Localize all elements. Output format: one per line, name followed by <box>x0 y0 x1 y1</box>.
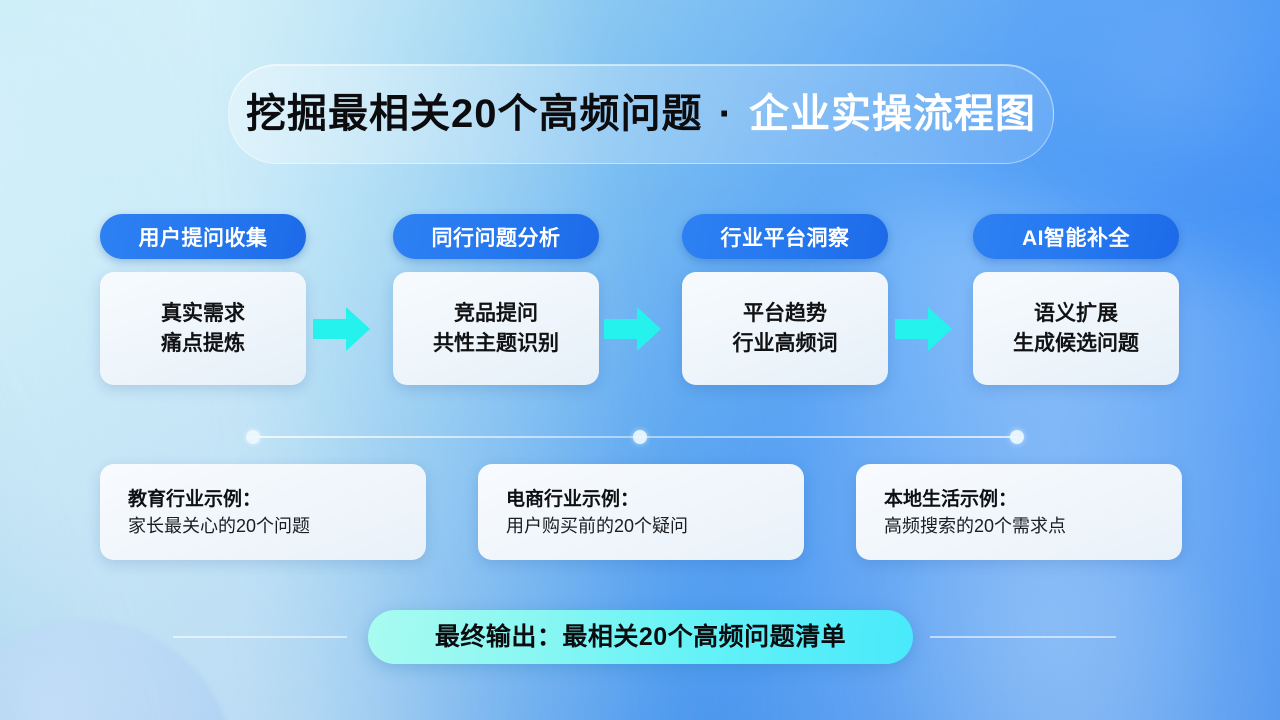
example-cards-row: 教育行业示例： 家长最关心的20个问题 电商行业示例： 用户购买前的20个疑问 … <box>0 464 1280 562</box>
example-card-2-title: 电商行业示例： <box>506 490 804 509</box>
connector-dot-2 <box>633 430 647 444</box>
example-card-local-life[interactable]: 本地生活示例： 高频搜索的20个需求点 <box>856 464 1182 560</box>
process-step-3[interactable]: 行业平台洞察 平台趋势 行业高频词 <box>682 214 888 385</box>
step-4-line-1: 语义扩展 <box>1034 303 1118 324</box>
arrow-right-icon-3 <box>895 306 953 352</box>
step-1-pill-label: 用户提问收集 <box>100 214 306 259</box>
step-4-pill-label: AI智能补全 <box>973 214 1179 259</box>
process-step-1[interactable]: 用户提问收集 真实需求 痛点提炼 <box>100 214 306 385</box>
step-2-card: 竞品提问 共性主题识别 <box>393 272 599 385</box>
step-4-line-2: 生成候选问题 <box>1013 333 1139 354</box>
page-title: 挖掘最相关20个高频问题 · 企业实操流程图 <box>246 94 1036 134</box>
final-connector-right <box>930 636 1116 638</box>
step-3-line-1: 平台趋势 <box>743 303 827 324</box>
example-card-3-subtitle: 高频搜索的20个需求点 <box>884 517 1182 535</box>
process-step-4[interactable]: AI智能补全 语义扩展 生成候选问题 <box>973 214 1179 385</box>
step-1-card: 真实需求 痛点提炼 <box>100 272 306 385</box>
example-card-education[interactable]: 教育行业示例： 家长最关心的20个问题 <box>100 464 426 560</box>
example-card-ecommerce[interactable]: 电商行业示例： 用户购买前的20个疑问 <box>478 464 804 560</box>
example-card-1-subtitle: 家长最关心的20个问题 <box>128 517 426 535</box>
flowchart-slide: 挖掘最相关20个高频问题 · 企业实操流程图 用户提问收集 真实需求 痛点提炼 … <box>0 0 1280 720</box>
step-1-line-1: 真实需求 <box>161 303 245 324</box>
final-output-banner[interactable]: 最终输出：最相关20个高频问题清单 <box>368 610 913 664</box>
step-1-line-2: 痛点提炼 <box>161 333 245 354</box>
final-connector-left <box>173 636 347 638</box>
connector-dot-1 <box>246 430 260 444</box>
step-2-line-1: 竞品提问 <box>454 303 538 324</box>
step-2-pill-label: 同行问题分析 <box>393 214 599 259</box>
example-card-2-subtitle: 用户购买前的20个疑问 <box>506 517 804 535</box>
page-title-primary: 挖掘最相关20个高频问题 <box>246 92 703 136</box>
step-3-pill-label: 行业平台洞察 <box>682 214 888 259</box>
step-4-card: 语义扩展 生成候选问题 <box>973 272 1179 385</box>
step-3-card: 平台趋势 行业高频词 <box>682 272 888 385</box>
example-card-1-title: 教育行业示例： <box>128 490 426 509</box>
page-title-secondary: 企业实操流程图 <box>749 92 1036 136</box>
process-step-2[interactable]: 同行问题分析 竞品提问 共性主题识别 <box>393 214 599 385</box>
arrow-right-icon-1 <box>313 306 371 352</box>
step-2-line-2: 共性主题识别 <box>433 333 559 354</box>
final-output-label: 最终输出：最相关20个高频问题清单 <box>435 625 846 650</box>
arrow-right-icon-2 <box>604 306 662 352</box>
connector-dot-3 <box>1010 430 1024 444</box>
title-banner: 挖掘最相关20个高频问题 · 企业实操流程图 <box>228 64 1054 164</box>
example-card-3-title: 本地生活示例： <box>884 490 1182 509</box>
step-3-line-2: 行业高频词 <box>733 333 838 354</box>
page-title-separator: · <box>715 92 737 136</box>
